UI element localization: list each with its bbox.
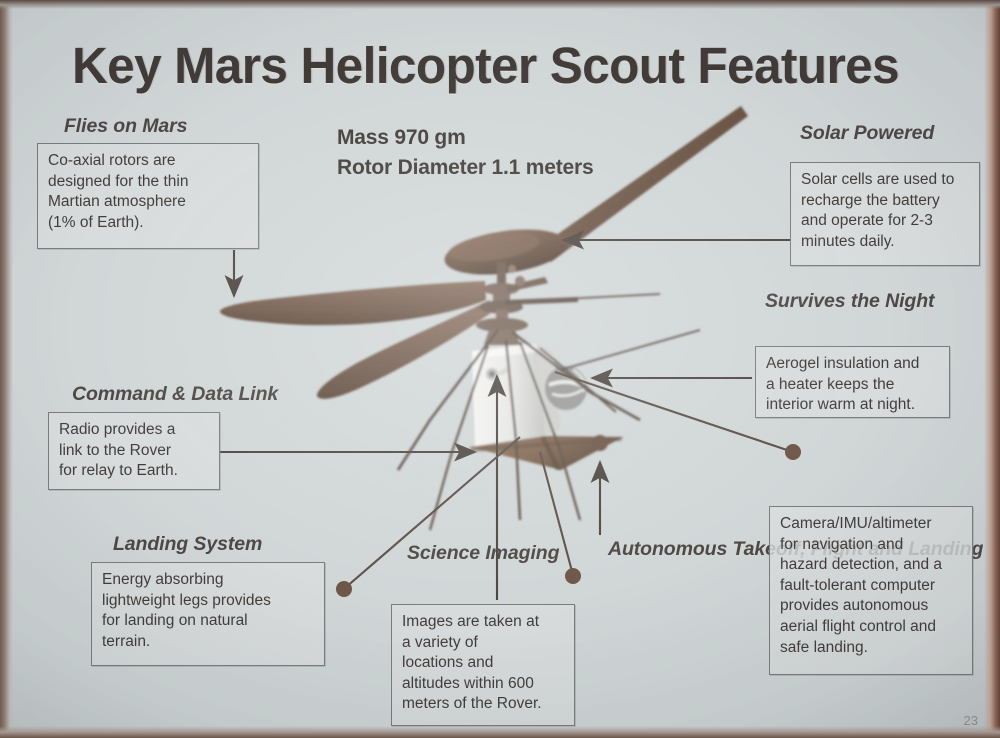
spec-text: Mass 970 gm Rotor Diameter 1.1 meters [337,123,593,183]
heading-flies-on-mars: Flies on Mars [64,115,187,138]
leader-landing-system [345,437,520,588]
presentation-slide: Key Mars Helicopter Scout Features Mass … [0,0,1000,738]
callout-survives-the-night: Aerogel insulation and a heater keeps th… [755,346,950,418]
photo-edge-right [984,0,1000,738]
leader-endpoint-dots [336,444,801,597]
callout-camera-imu-altimeter: Camera/IMU/altimeter for navigation and … [769,506,973,675]
heading-science-imaging: Science Imaging [407,542,559,565]
heading-solar-powered: Solar Powered [800,122,934,145]
photo-edge-left [0,0,13,738]
callout-science-imaging: Images are taken at a variety of locatio… [391,604,575,726]
callout-solar-powered: Solar cells are used to recharge the bat… [790,162,980,266]
slide-title: Key Mars Helicopter Scout Features [72,36,899,95]
photo-edge-top [0,0,1000,9]
photo-edge-bottom [0,726,1000,738]
callout-command-and-data-link: Radio provides a link to the Rover for r… [48,412,220,490]
heading-survives-the-night: Survives the Night [765,290,934,313]
callout-flies-on-mars: Co-axial rotors are designed for the thi… [37,143,259,249]
heading-command-and-data-link: Command & Data Link [72,383,278,406]
callout-landing-system: Energy absorbing lightweight legs provid… [91,562,325,666]
heading-landing-system: Landing System [113,533,262,556]
